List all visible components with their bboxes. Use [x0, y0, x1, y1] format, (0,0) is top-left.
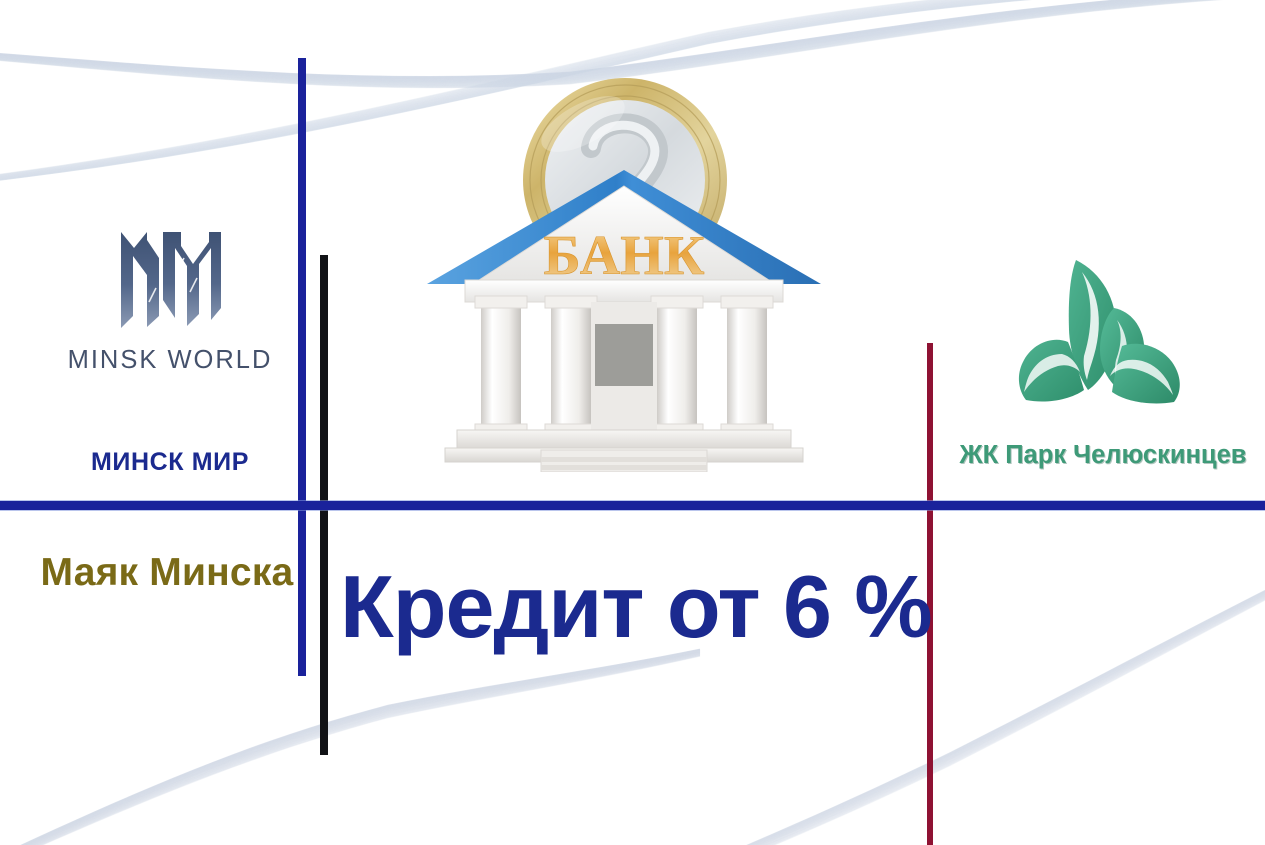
mw-monogram-icon: [117, 228, 223, 332]
horizontal-blue-rule: [0, 501, 1265, 510]
brand-park-chelyuskintsev: [944, 250, 1254, 420]
brand-mayak-minska: Маяк Минска: [36, 551, 298, 595]
bank-doorway: [595, 324, 653, 386]
page-title: Кредит от 6 %: [340, 563, 930, 651]
green-leaf-icon: [996, 250, 1202, 420]
vertical-blue-rule: [298, 58, 306, 676]
brand-minsk-world: MINSK WORLD: [50, 228, 290, 375]
minsk-world-cyrillic-name: МИНСК МИР: [50, 448, 290, 477]
promo-banner: MINSK WORLD МИНСК МИР Маяк Минска: [0, 0, 1265, 845]
park-chelyuskintsev-name: ЖК Парк Челюскинцев: [944, 441, 1262, 470]
bank-building-illustration: рубли БАНК: [423, 52, 825, 472]
minsk-world-latin-name: MINSK WORLD: [50, 346, 290, 375]
bank-pediment-label: БАНК: [544, 225, 705, 287]
